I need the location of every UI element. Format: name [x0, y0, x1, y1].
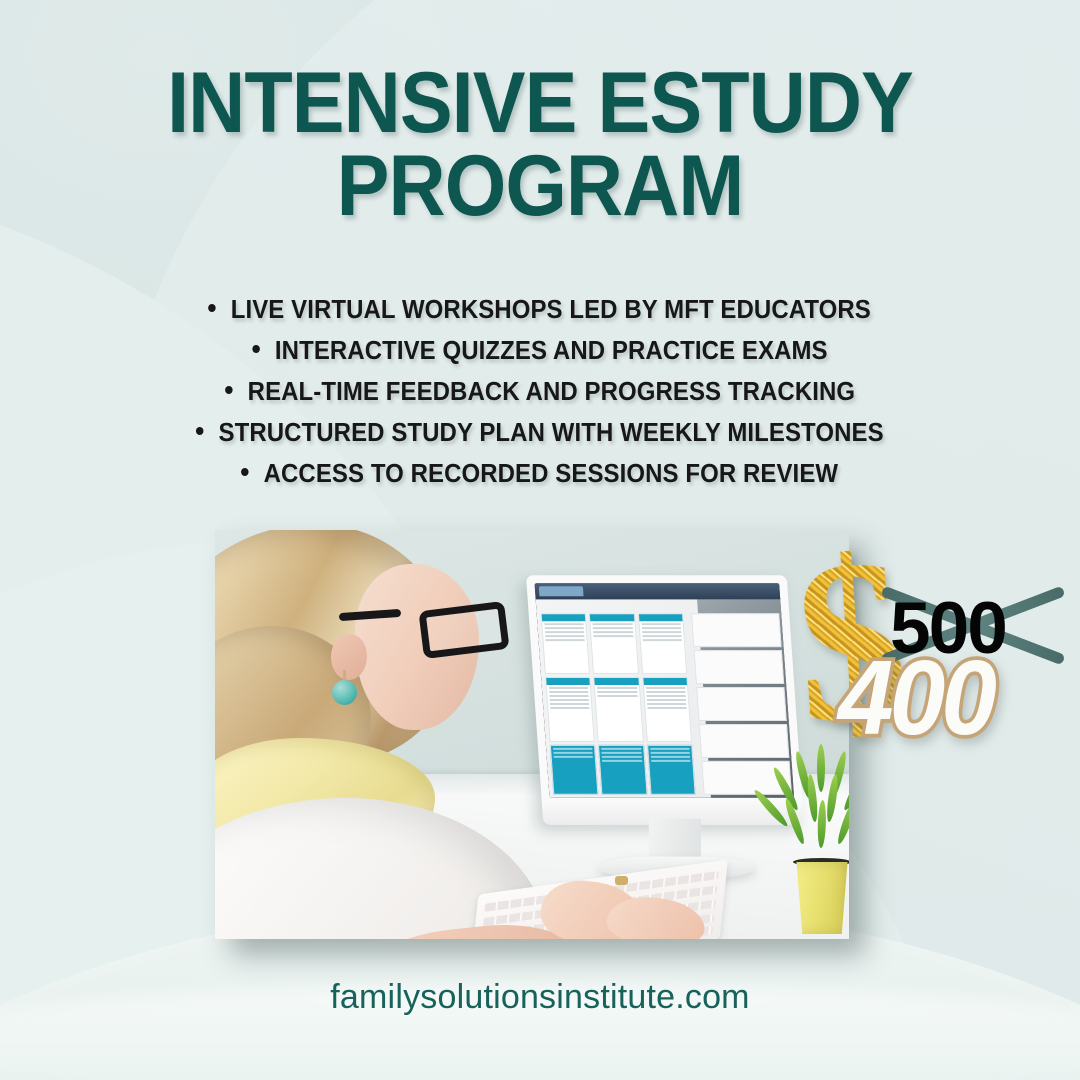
list-item-label: LIVE VIRTUAL WORKSHOPS LED BY MFT EDUCAT…	[231, 296, 871, 325]
bullet-dot-icon	[225, 386, 233, 394]
person-ear	[331, 634, 367, 680]
website-url[interactable]: familysolutionsinstitute.com	[0, 978, 1080, 1017]
bullet-dot-icon	[209, 304, 217, 312]
price-badge: $ 500 400	[780, 540, 1080, 780]
bullet-dot-icon	[196, 427, 204, 435]
bullet-dot-icon	[252, 345, 260, 353]
list-item: REAL-TIME FEEDBACK AND PROGRESS TRACKING	[225, 378, 855, 407]
screen-card	[638, 613, 688, 674]
screen-card-grid	[541, 613, 696, 795]
hero-photo	[215, 530, 849, 939]
screen-card	[589, 613, 639, 674]
person-glasses	[383, 602, 499, 644]
monitor-body	[526, 575, 804, 824]
sidebar-widget	[691, 613, 781, 647]
list-item: STRUCTURED STUDY PLAN WITH WEEKLY MILEST…	[196, 419, 884, 448]
discounted-price: 400	[838, 645, 993, 751]
screen-card	[642, 677, 692, 742]
bullet-dot-icon	[241, 468, 249, 476]
screen-card	[545, 677, 595, 742]
person-ring	[615, 876, 628, 885]
list-item-label: REAL-TIME FEEDBACK AND PROGRESS TRACKING	[248, 378, 855, 407]
list-item-label: ACCESS TO RECORDED SESSIONS FOR REVIEW	[264, 460, 839, 489]
person-earring	[332, 680, 357, 705]
list-item: LIVE VIRTUAL WORKSHOPS LED BY MFT EDUCAT…	[209, 296, 872, 325]
feature-list: LIVE VIRTUAL WORKSHOPS LED BY MFT EDUCAT…	[0, 296, 1080, 489]
list-item-label: INTERACTIVE QUIZZES AND PRACTICE EXAMS	[275, 337, 828, 366]
screen-card	[598, 745, 647, 795]
sidebar-widget	[694, 650, 784, 684]
list-item-label: STRUCTURED STUDY PLAN WITH WEEKLY MILEST…	[219, 419, 884, 448]
plant-pot	[793, 862, 849, 934]
screen-card	[647, 745, 696, 795]
list-item: INTERACTIVE QUIZZES AND PRACTICE EXAMS	[252, 337, 827, 366]
promo-poster: INTENSIVE ESTUDY PROGRAM LIVE VIRTUAL WO…	[0, 0, 1080, 1080]
screen-card	[594, 677, 644, 742]
sidebar-widget	[696, 687, 786, 721]
desktop-monitor	[526, 575, 804, 824]
screen-page-body	[536, 599, 794, 798]
screen-browser-tab	[539, 586, 584, 596]
list-item: ACCESS TO RECORDED SESSIONS FOR REVIEW	[241, 460, 838, 489]
page-title: INTENSIVE ESTUDY PROGRAM	[43, 62, 1037, 227]
monitor-screen	[535, 583, 795, 797]
screen-card	[550, 745, 599, 795]
screen-card	[541, 613, 591, 674]
screen-browser-bar	[535, 583, 781, 599]
